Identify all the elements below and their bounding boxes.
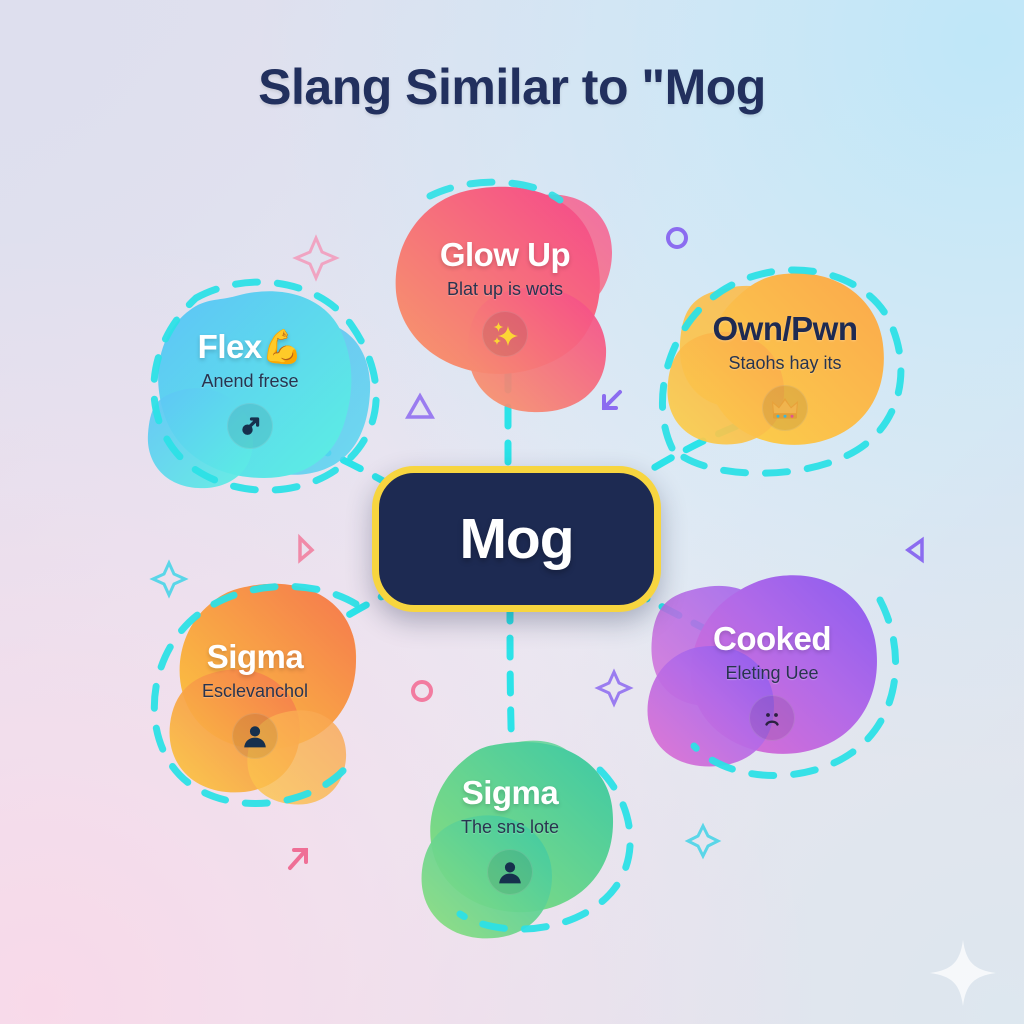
node-cooked[interactable]: Cooked Eleting Uee xyxy=(672,622,872,741)
crown-icon xyxy=(762,385,808,431)
node-cooked-subtitle: Eleting Uee xyxy=(672,664,872,682)
person-icon xyxy=(487,849,533,895)
arrow-purple-icon xyxy=(604,392,620,408)
node-outline-glow-up xyxy=(430,182,560,200)
connector-sigma-bottom xyxy=(510,602,512,760)
node-own-pwn[interactable]: Own/Pwn Staohs hay its xyxy=(680,312,890,431)
page-title: Slang Similar to "Mog xyxy=(0,58,1024,116)
node-sigma-left-subtitle: Esclevanchol xyxy=(155,682,355,700)
node-sigma-bottom[interactable]: Sigma The sns lote xyxy=(410,776,610,895)
triangle-violet-icon xyxy=(908,540,922,560)
node-flex[interactable]: Flex💪 Anend frese xyxy=(150,330,350,449)
center-node-label: Mog xyxy=(459,511,573,568)
sad-face-icon xyxy=(749,695,795,741)
node-flex-title: Flex💪 xyxy=(150,330,350,363)
sparkle-cyan-small-icon xyxy=(688,826,718,856)
flex-biceps-icon: 💪 xyxy=(262,327,303,366)
node-own-pwn-title: Own/Pwn xyxy=(680,312,890,345)
arrow-pink-icon xyxy=(290,850,306,868)
triangle-pink-icon xyxy=(300,538,312,560)
circle-pink-icon xyxy=(413,682,431,700)
node-glow-up-title: Glow Up xyxy=(400,238,610,271)
node-sigma-left-title: Sigma xyxy=(155,640,355,673)
sparkle-white-icon xyxy=(930,940,996,1006)
node-own-pwn-subtitle: Staohs hay its xyxy=(680,354,890,372)
sparkle-pink-icon xyxy=(296,238,336,278)
circle-purple-icon xyxy=(668,229,686,247)
node-cooked-title: Cooked xyxy=(672,622,872,655)
node-flex-subtitle: Anend frese xyxy=(150,372,350,390)
sparkle-cyan-icon xyxy=(153,563,185,595)
sparkles-icon xyxy=(482,311,528,357)
node-glow-up[interactable]: Glow Up Blat up is wots xyxy=(400,238,610,357)
node-sigma-bottom-title: Sigma xyxy=(410,776,610,809)
person-icon xyxy=(232,713,278,759)
sparkle-violet-icon xyxy=(598,672,630,704)
triangle-purple-icon xyxy=(408,396,432,417)
arrow-circle-icon xyxy=(227,403,273,449)
node-sigma-left[interactable]: Sigma Esclevanchol xyxy=(155,640,355,759)
node-glow-up-subtitle: Blat up is wots xyxy=(400,280,610,298)
node-sigma-bottom-subtitle: The sns lote xyxy=(410,818,610,836)
infographic-canvas: Slang Similar to "Mog xyxy=(0,0,1024,1024)
center-node-mog[interactable]: Mog xyxy=(372,466,661,612)
